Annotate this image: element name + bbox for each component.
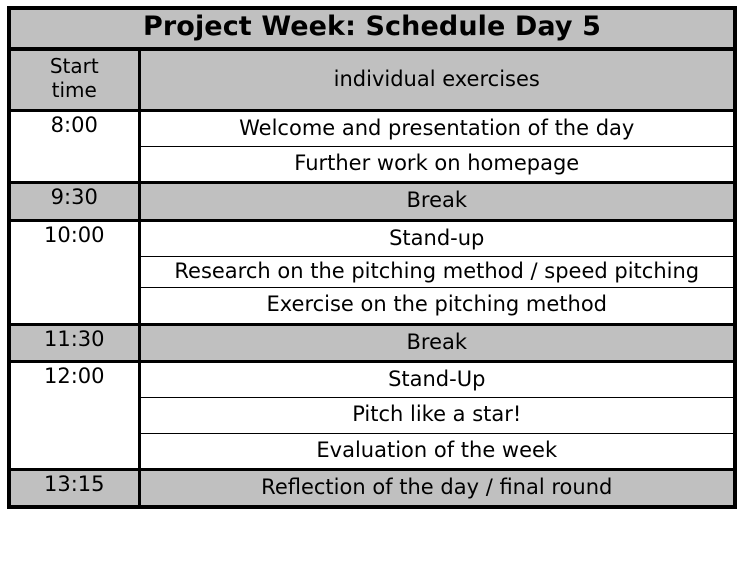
column-header-activities: individual exercises — [139, 49, 735, 110]
start-time-cell: 12:00 — [9, 362, 139, 470]
schedule-table: Project Week: Schedule Day 5 Start time … — [7, 6, 737, 509]
schedule-sheet: Project Week: Schedule Day 5 Start time … — [0, 0, 744, 564]
activity-cell: Reflection of the day / final round — [139, 470, 735, 508]
activity-cell: Welcome and presentation of the day — [139, 110, 735, 146]
schedule-row: 8:00Welcome and presentation of the day — [9, 110, 735, 146]
schedule-row: 10:00Stand-up — [9, 220, 735, 256]
activity-cell: Pitch like a star! — [139, 398, 735, 433]
activity-cell: Further work on homepage — [139, 146, 735, 182]
header-row: Start time individual exercises — [9, 49, 735, 110]
start-time-cell: 9:30 — [9, 183, 139, 220]
start-time-cell: 13:15 — [9, 470, 139, 508]
column-header-start-time-line1: Start — [50, 54, 99, 78]
activity-cell: Exercise on the pitching method — [139, 288, 735, 324]
activity-cell: Research on the pitching method / speed … — [139, 256, 735, 287]
activity-cell: Stand-up — [139, 220, 735, 256]
schedule-body: Project Week: Schedule Day 5 Start time … — [9, 8, 735, 507]
title-row: Project Week: Schedule Day 5 — [9, 8, 735, 49]
page-title: Project Week: Schedule Day 5 — [9, 8, 735, 49]
start-time-cell: 11:30 — [9, 324, 139, 361]
column-header-start-time-line2: time — [52, 78, 97, 102]
start-time-cell: 8:00 — [9, 110, 139, 183]
activity-cell: Evaluation of the week — [139, 433, 735, 469]
schedule-row: 11:30Break — [9, 324, 735, 361]
schedule-row: 13:15Reflection of the day / final round — [9, 470, 735, 508]
column-header-start-time: Start time — [9, 49, 139, 110]
activity-cell: Stand-Up — [139, 362, 735, 398]
activity-cell: Break — [139, 183, 735, 220]
start-time-cell: 10:00 — [9, 220, 139, 324]
schedule-row: 12:00Stand-Up — [9, 362, 735, 398]
schedule-row: 9:30Break — [9, 183, 735, 220]
activity-cell: Break — [139, 324, 735, 361]
